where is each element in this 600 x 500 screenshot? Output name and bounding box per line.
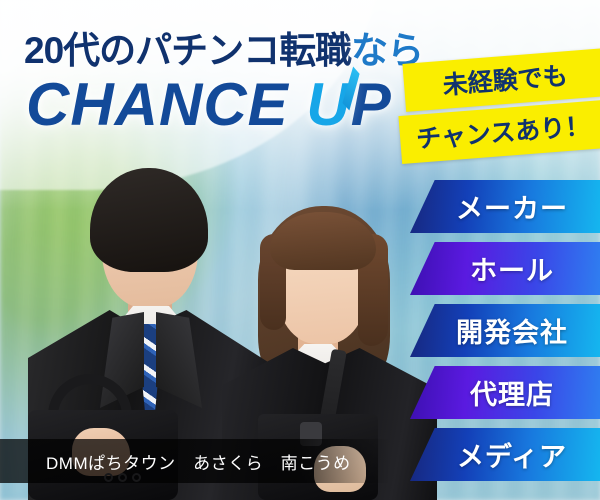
category-button-list: メーカー ホール 開発会社 代理店 メディア [410, 180, 600, 490]
status-badge: 未経験でも チャンスあり！ [404, 56, 600, 156]
page-title: 20代のパチンコ転職なら [24, 20, 423, 74]
ad-banner[interactable]: 20代のパチンコ転職なら CHANCE U P 未経験でも チャンスあり！ メー… [0, 0, 600, 500]
category-button-label: 開発会社 [456, 311, 568, 350]
man-hair [90, 168, 208, 272]
caption-bar: DMMぱちタウン あさくら 南こうめ [0, 439, 390, 483]
logo-letter-u: U [306, 70, 350, 139]
brand-logo: CHANCE U P [26, 70, 392, 139]
category-button-maker[interactable]: メーカー [410, 180, 600, 233]
logo-word-chance: CHANCE [26, 71, 289, 138]
category-button-label: メディア [457, 435, 567, 474]
category-button-hall[interactable]: ホール [410, 242, 600, 295]
category-button-agency[interactable]: 代理店 [410, 366, 600, 419]
category-button-developer[interactable]: 開発会社 [410, 304, 600, 357]
category-button-label: ホール [470, 249, 554, 288]
caption-text: DMMぱちタウン あさくら 南こうめ [0, 449, 351, 474]
headline-main: 20代のパチンコ転職 [24, 30, 351, 71]
category-button-label: メーカー [456, 187, 568, 226]
category-button-media[interactable]: メディア [410, 428, 600, 481]
category-button-label: 代理店 [470, 373, 554, 412]
